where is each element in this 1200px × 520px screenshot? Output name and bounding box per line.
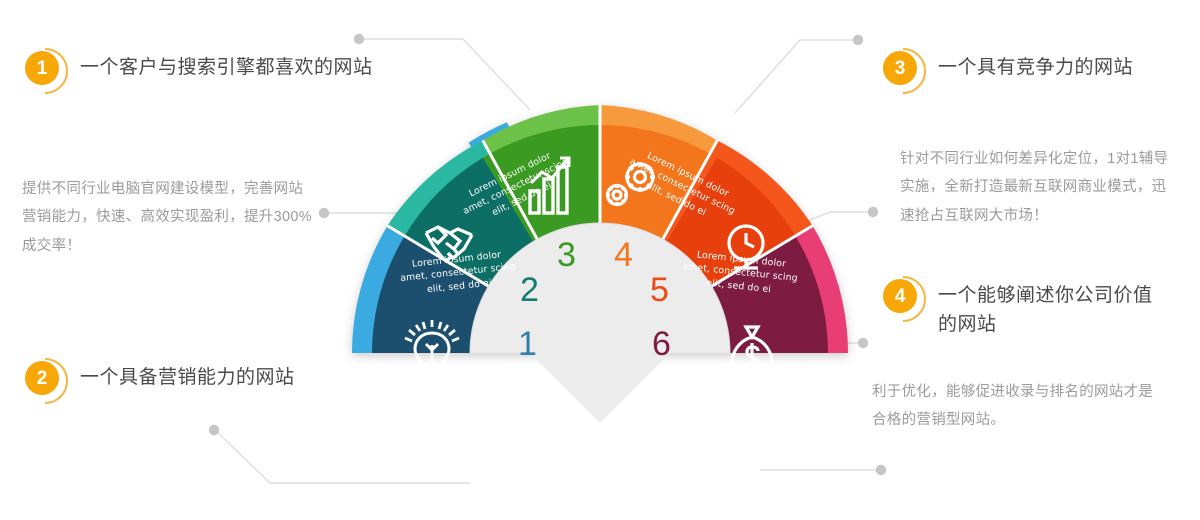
item-1-body: 提供不同行业电脑官网建设模型，完善网站营销能力，快速、高效实现盈利，提升300%… (22, 175, 312, 260)
item-4-heading-block: 4 一个能够阐述你公司价值的网站 (880, 276, 1170, 339)
badge-number: 1 (25, 51, 59, 85)
item-4-number-badge: 4 (880, 276, 922, 318)
semicircle-wheel-diagram: Lorem ipsum dolor amet, consectetur scin… (352, 105, 848, 485)
infographic-canvas: 1 一个客户与搜索引擎都喜欢的网站 提供不同行业电脑官网建设模型，完善网站营销能… (0, 0, 1200, 520)
item-3-body: 针对不同行业如何差异化定位，1对1辅导实施，全新打造最新互联网商业模式，迅速抢占… (900, 145, 1180, 230)
item-3-title: 一个具有竞争力的网站 (938, 48, 1133, 83)
wheel-number-2: 2 (520, 273, 539, 307)
wheel-number-5: 5 (650, 273, 669, 307)
wheel-number-3: 3 (557, 238, 576, 272)
item-1-number-badge: 1 (22, 48, 64, 90)
wheel-number-6: 6 (652, 327, 671, 361)
item-1-heading-block: 1 一个客户与搜索引擎都喜欢的网站 (22, 48, 382, 90)
wheel-number-1: 1 (518, 327, 537, 361)
item-3-number-badge: 3 (880, 48, 922, 90)
item-2-heading-block: 2 一个具备营销能力的网站 (22, 358, 382, 400)
badge-number: 3 (883, 51, 917, 85)
wheel-number-4: 4 (614, 238, 633, 272)
item-1-title: 一个客户与搜索引擎都喜欢的网站 (80, 48, 373, 83)
item-2-number-badge: 2 (22, 358, 64, 400)
item-2-title: 一个具备营销能力的网站 (80, 358, 295, 393)
badge-number: 2 (25, 361, 59, 395)
item-3-heading-block: 3 一个具有竞争力的网站 (880, 48, 1180, 90)
badge-number: 4 (883, 279, 917, 313)
item-4-title: 一个能够阐述你公司价值的网站 (938, 276, 1170, 339)
item-4-body: 利于优化，能够促进收录与排名的网站才是合格的营销型网站。 (872, 378, 1162, 435)
